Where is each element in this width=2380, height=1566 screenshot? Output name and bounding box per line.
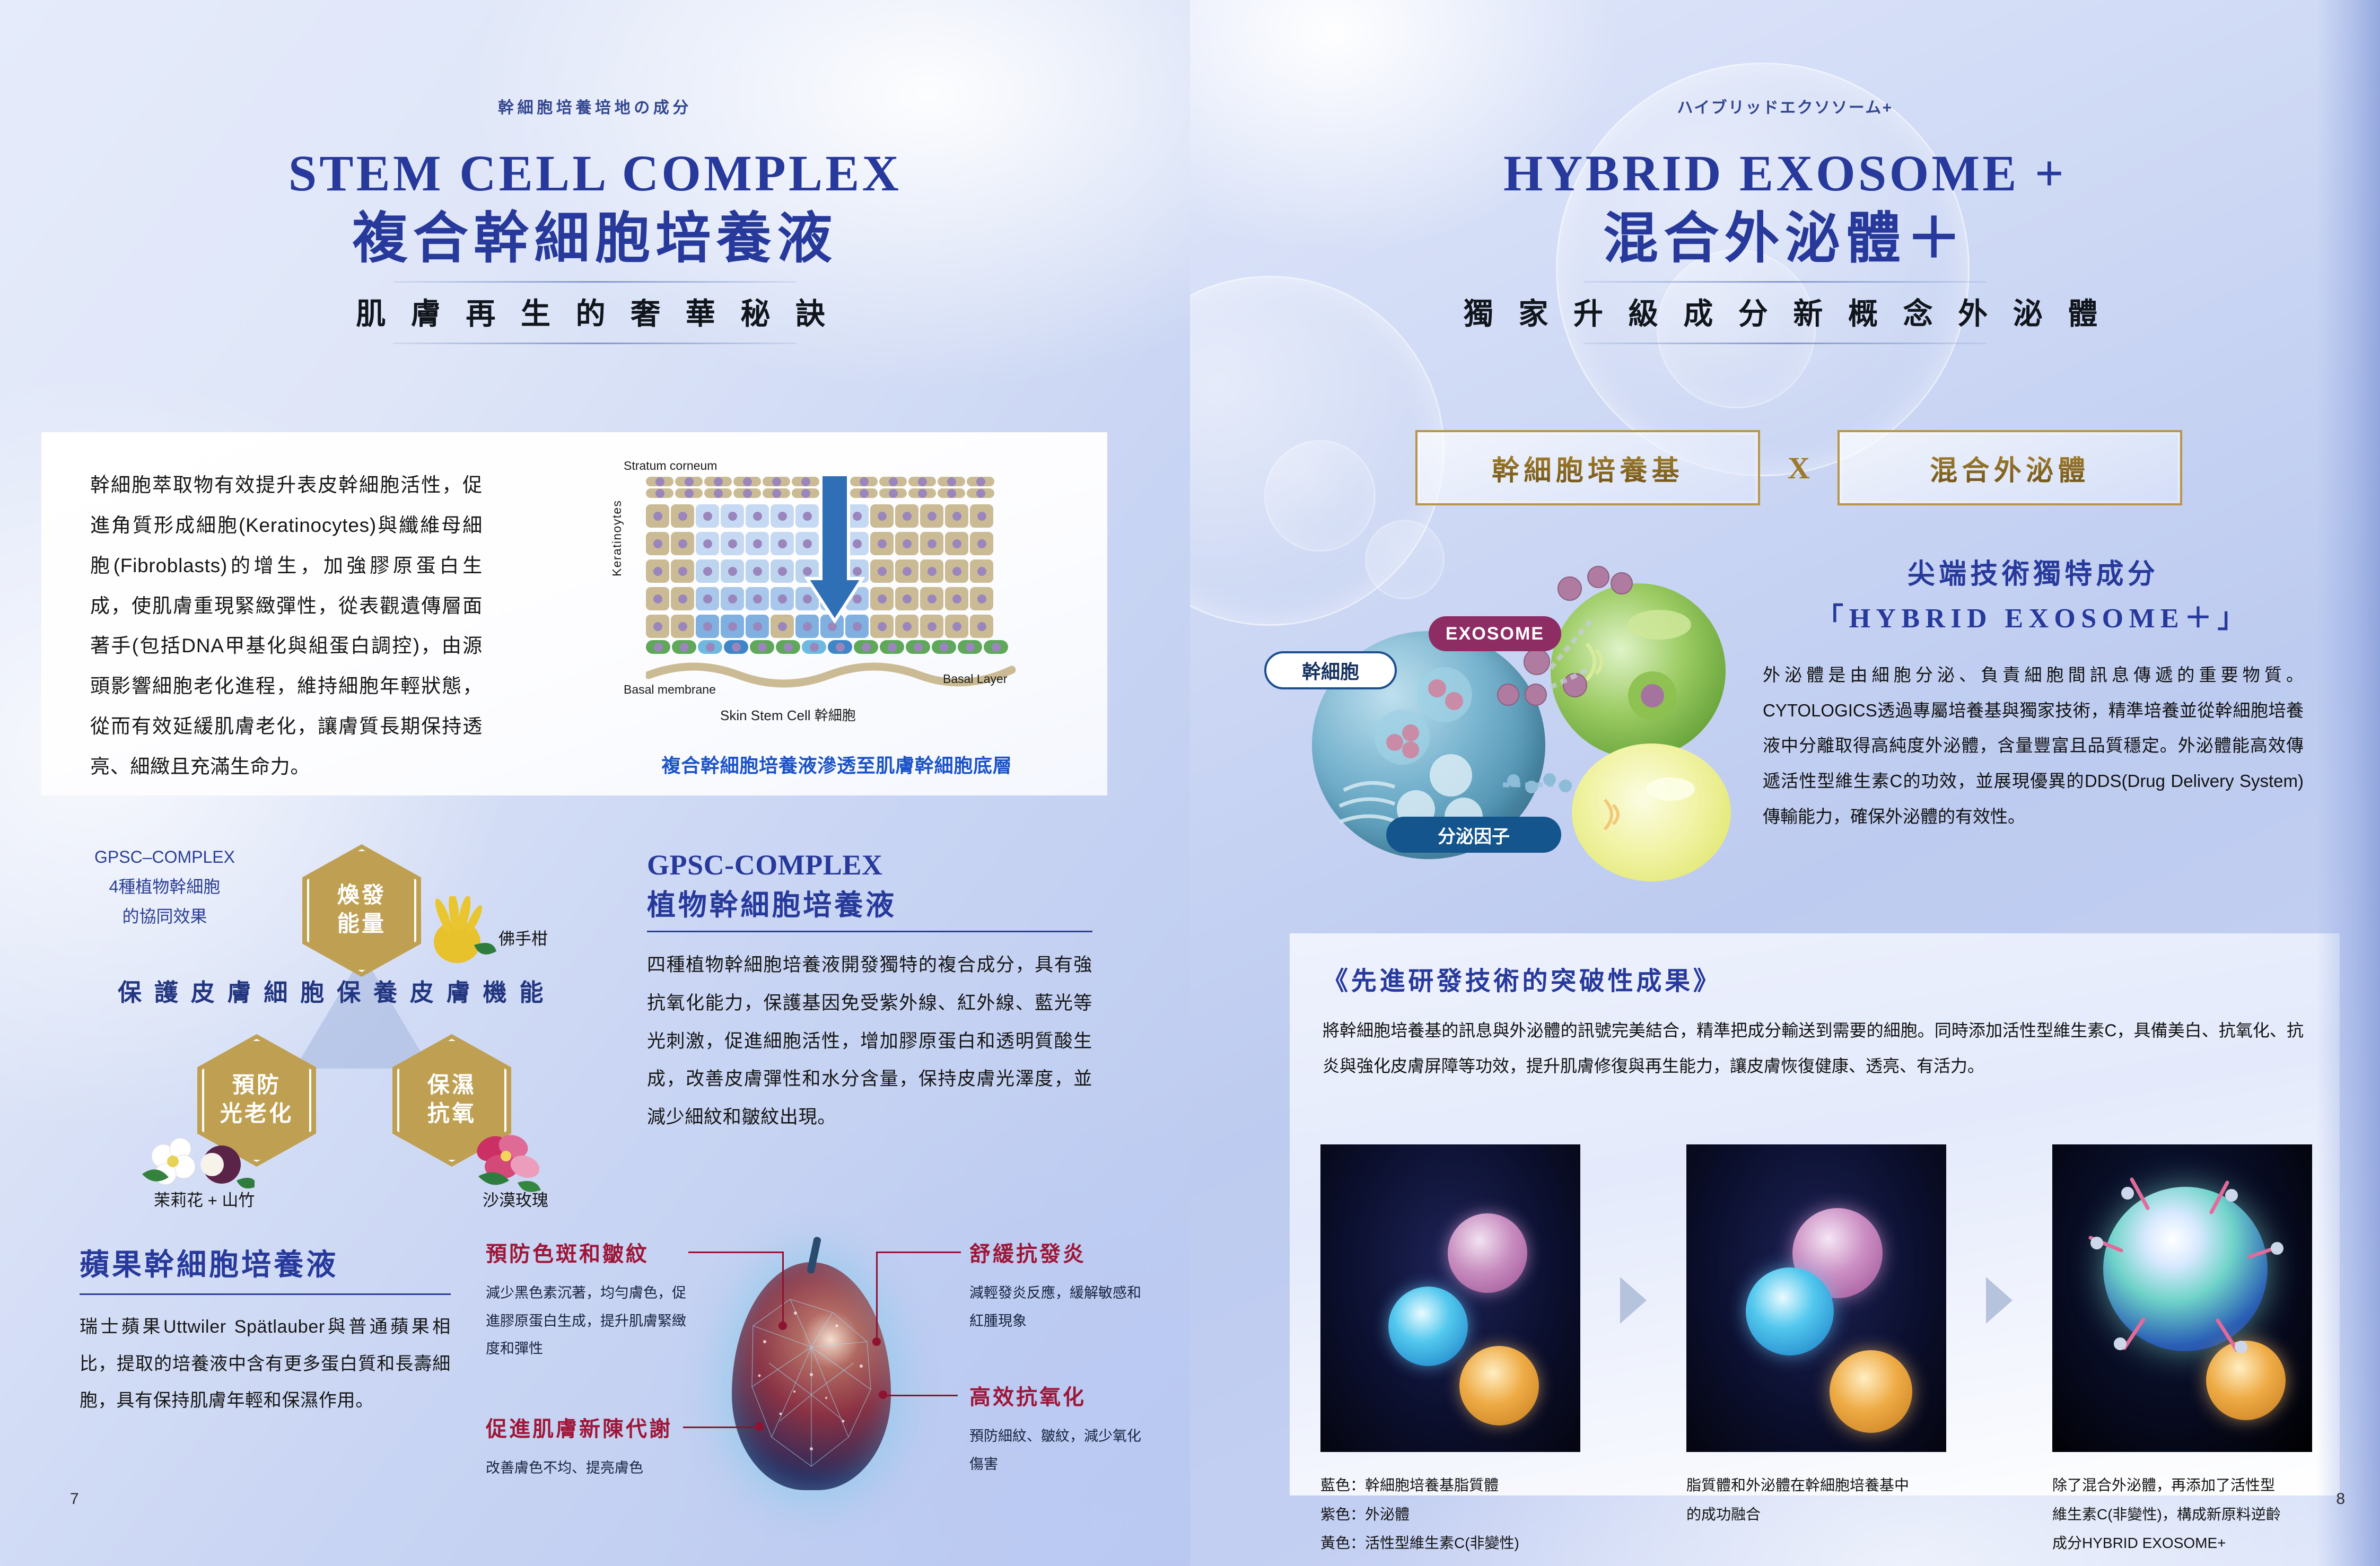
step-3-caption: 除了混合外泌體，再添加了活性型 維生素C(非變性)，構成新原料逆齡 成分HYBR…	[2052, 1471, 2312, 1558]
gpsc-hex-top-label: 煥發能量	[337, 882, 386, 939]
bubble-decor-4	[1264, 440, 1376, 552]
apple-leader-2	[876, 1252, 961, 1253]
step-arrow-1-wrap	[1580, 1144, 1686, 1463]
tech-body: 外泌體是由細胞分泌、負責細胞間訊息傳遞的重要物質。CYTOLOGICS透過專屬培…	[1763, 658, 2304, 834]
apple-dot-3	[755, 1422, 764, 1431]
tag-exosome-label: EXOSOME	[1446, 624, 1544, 644]
apple-leader-2-v	[876, 1252, 878, 1342]
right-header: ハイブリッドエクソソーム+ HYBRID EXOSOME + 混合外泌體＋ 獨 …	[1190, 94, 2380, 352]
advance-panel: 《先進研發技術的突破性成果》 將幹細胞培養基的訊息與外泌體的訊號完美結合，精準把…	[1290, 933, 2340, 1495]
apple-dot-2	[872, 1337, 881, 1346]
tech-block: 尖端技術獨特成分 「HYBRID EXOSOME＋」 外泌體是由細胞分泌、負責細…	[1763, 552, 2304, 834]
plant-label-bergamot: 佛手柑	[498, 925, 548, 949]
apple-callout-1-title: 預防色斑和皺紋	[486, 1237, 687, 1267]
apple-leader-1	[688, 1252, 784, 1253]
gpsc-hex-bottom-right-label: 保濕抗氧	[427, 1072, 476, 1129]
apple-body: 瑞士蘋果Uttwiler Spätlauber與普通蘋果相比，提取的培養液中含有…	[80, 1309, 451, 1420]
apple-text-block: 蘋果幹細胞培養液 瑞士蘋果Uttwiler Spätlauber與普通蘋果相比，…	[80, 1241, 451, 1420]
skin-diagram: Stratum corneum Keratinoytes	[614, 444, 1070, 783]
tag-secretion-factor: 分泌因子	[1386, 817, 1561, 853]
right-title-rule-bottom	[1583, 343, 1987, 344]
gpsc-badge-en: GPSC–COMPLEX	[94, 842, 235, 872]
apple-callout-3-title: 促進肌膚新陳代謝	[486, 1412, 687, 1442]
tag-stem-cell: 幹細胞	[1264, 651, 1397, 689]
step-2: 脂質體和外泌體在幹細胞培養基中 的成功融合	[1686, 1144, 1946, 1463]
step-1: 藍色：幹細胞培養基脂質體 紫色：外泌體 黃色：活性型維生素C(非變性)	[1320, 1144, 1580, 1463]
brochure-spread: 幹細胞培養培地の成分 STEM CELL COMPLEX 複合幹細胞培養液 肌 …	[0, 0, 2380, 1566]
skin-label-basal-membrane: Basal membrane	[624, 683, 716, 697]
left-kicker: 幹細胞培養培地の成分	[0, 94, 1190, 118]
apple-diagram: 預防色斑和皺紋 減少黑色素沉著，均勻膚色，促進膠原蛋白生成，提升肌膚緊緻度和彈性…	[477, 1220, 1145, 1517]
right-kicker: ハイブリッドエクソソーム+	[1190, 94, 2380, 118]
formula-row: 幹細胞培養基 X 混合外泌體	[1401, 428, 2197, 507]
gpsc-hex-bottom-left-label: 預防光老化	[220, 1072, 294, 1129]
tag-stem-cell-label: 幹細胞	[1302, 657, 1359, 684]
left-header: 幹細胞培養培地の成分 STEM CELL COMPLEX 複合幹細胞培養液 肌 …	[0, 94, 1190, 352]
right-subtitle: 獨 家 升 級 成 分 新 概 念 外 泌 體	[1190, 290, 2380, 333]
step-3: 除了混合外泌體，再添加了活性型 維生素C(非變性)，構成新原料逆齡 成分HYBR…	[2052, 1144, 2312, 1463]
steps-row: 藍色：幹細胞培養基脂質體 紫色：外泌體 黃色：活性型維生素C(非變性)	[1320, 1144, 2312, 1463]
skin-label-keratinocytes: Keratinoytes	[610, 500, 624, 576]
apple-callout-3-body: 改善膚色不均、提亮膚色	[486, 1454, 687, 1482]
right-title-cn: 混合外泌體＋	[1190, 206, 2380, 273]
formula-left-box[interactable]: 幹細胞培養基	[1415, 430, 1760, 505]
step-1-caption: 藍色：幹細胞培養基脂質體 紫色：外泌體 黃色：活性型維生素C(非變性)	[1320, 1471, 1580, 1558]
skin-epidermis	[646, 477, 1017, 662]
gpsc-rule	[647, 931, 1092, 932]
formula-right-box[interactable]: 混合外泌體	[1837, 430, 2182, 505]
step-arrow-1-icon	[1620, 1277, 1647, 1324]
right-page: ハイブリッドエクソソーム+ HYBRID EXOSOME + 混合外泌體＋ 獨 …	[1190, 0, 2380, 1566]
right-page-edge-shade	[2316, 0, 2380, 1566]
skin-label-basal-layer: Basal Layer	[943, 672, 1007, 686]
gpsc-text-block: GPSC-COMPLEX 植物幹細胞培養液 四種植物幹細胞培養液開發獨特的複合成…	[647, 848, 1092, 1136]
advance-title: 《先進研發技術的突破性成果》	[1323, 960, 1722, 997]
plant-label-desert-rose: 沙漠玫瑰	[483, 1187, 548, 1211]
step-1-photo	[1320, 1144, 1580, 1452]
exosome-cell-diagram: 幹細胞 EXOSOME 分泌因子	[1275, 536, 1742, 875]
step-1-exosome-blob	[1448, 1213, 1527, 1293]
tech-title-en: 「HYBRID EXOSOME＋」	[1763, 596, 2304, 635]
step-2-caption: 脂質體和外泌體在幹細胞培養基中 的成功融合	[1686, 1471, 1946, 1529]
bergamot-icon	[419, 896, 498, 981]
right-page-number: 8	[2336, 1490, 2345, 1508]
formula-left-label: 幹細胞培養基	[1492, 448, 1684, 488]
left-title-en: STEM CELL COMPLEX	[0, 143, 1190, 203]
apple-callout-2: 舒緩抗發炎 減輕發炎反應，緩解敏感和紅腫現象	[969, 1237, 1144, 1335]
left-page-number: 7	[70, 1490, 79, 1508]
gpsc-hex-diagram: GPSC–COMPLEX 4種植物幹細胞 的協同效果 煥發能量 預防光老化 保濕…	[80, 833, 610, 1204]
intro-panel: 幹細胞萃取物有效提升表皮幹細胞活性，促進角質形成細胞(Keratinocytes…	[41, 432, 1107, 795]
skin-diagram-caption: 複合幹細胞培養液滲透至肌膚幹細胞底層	[598, 750, 1075, 778]
formula-right-label: 混合外泌體	[1930, 448, 2090, 488]
right-title-rule-top	[1583, 281, 1987, 283]
left-title-rule-bottom	[393, 343, 797, 344]
apple-title: 蘋果幹細胞培養液	[80, 1241, 451, 1284]
apple-dot-1	[778, 1322, 787, 1330]
skin-label-stem-cell: Skin Stem Cell 幹細胞	[720, 705, 856, 724]
gpsc-badge-line2: 的協同效果	[94, 902, 235, 931]
apple-callout-1: 預防色斑和皺紋 減少黑色素沉著，均勻膚色，促進膠原蛋白生成，提升肌膚緊緻度和彈性	[486, 1237, 687, 1363]
apple-leader-3	[683, 1427, 760, 1428]
step-3-photo	[2052, 1144, 2312, 1452]
step-2-liposome-blob	[1746, 1267, 1834, 1355]
apple-callout-4-body: 預防細紋、皺紋，減少氧化傷害	[969, 1422, 1144, 1478]
apple-leader-4	[886, 1395, 958, 1396]
formula-operator: X	[1788, 450, 1810, 486]
apple-dot-4	[879, 1390, 887, 1399]
left-page: 幹細胞培養培地の成分 STEM CELL COMPLEX 複合幹細胞培養液 肌 …	[0, 0, 1190, 1566]
apple-leader-1-v	[782, 1252, 784, 1326]
apple-callout-3: 促進肌膚新陳代謝 改善膚色不均、提亮膚色	[486, 1412, 687, 1482]
tag-secretion-factor-label: 分泌因子	[1438, 822, 1510, 848]
left-title-cn: 複合幹細胞培養液	[0, 206, 1190, 273]
apple-illustration	[732, 1262, 891, 1490]
apple-callout-2-body: 減輕發炎反應，緩解敏感和紅腫現象	[969, 1279, 1144, 1335]
apple-callout-4-title: 高效抗氧化	[969, 1380, 1144, 1411]
step-2-vitc-blob	[1830, 1350, 1912, 1433]
step-2-photo	[1686, 1144, 1946, 1452]
step-1-liposome-blob	[1388, 1287, 1468, 1366]
right-title-en: HYBRID EXOSOME +	[1190, 143, 2380, 203]
apple-rule	[80, 1293, 451, 1295]
apple-callout-2-title: 舒緩抗發炎	[969, 1237, 1144, 1267]
intro-paragraph: 幹細胞萃取物有效提升表皮幹細胞活性，促進角質形成細胞(Keratinocytes…	[90, 465, 483, 787]
advance-body: 將幹細胞培養基的訊息與外泌體的訊號完美結合，精準把成分輸送到需要的細胞。同時添加…	[1323, 1013, 2304, 1084]
step-1-vitc-blob	[1459, 1346, 1539, 1425]
gpsc-body: 四種植物幹細胞培養液開發獨特的複合成分，具有強抗氧化能力，保護基因免受紫外線、紅…	[647, 946, 1092, 1136]
gpsc-title-en: GPSC-COMPLEX	[647, 848, 1092, 881]
left-title-rule-top	[393, 281, 797, 283]
tag-exosome: EXOSOME	[1429, 616, 1561, 651]
left-subtitle: 肌 膚 再 生 的 奢 華 秘 訣	[0, 290, 1190, 333]
step-arrow-2-wrap	[1946, 1144, 2052, 1463]
tech-title-cn: 尖端技術獨特成分	[1763, 552, 2304, 591]
gpsc-title-cn: 植物幹細胞培養液	[647, 881, 1092, 923]
apple-callout-4: 高效抗氧化 預防細紋、皺紋，減少氧化傷害	[969, 1380, 1144, 1478]
step-3-spikes	[2052, 1144, 2312, 1452]
gpsc-badge-line1: 4種植物幹細胞	[94, 872, 235, 902]
apple-callout-1-body: 減少黑色素沉著，均勻膚色，促進膠原蛋白生成，提升肌膚緊緻度和彈性	[486, 1279, 687, 1363]
plant-label-jasmine-mangosteen: 茉莉花 + 山竹	[154, 1187, 255, 1211]
penetration-arrow-icon	[803, 475, 867, 634]
skin-label-stratum-corneum: Stratum corneum	[624, 459, 717, 473]
step-arrow-2-icon	[1986, 1277, 2012, 1324]
